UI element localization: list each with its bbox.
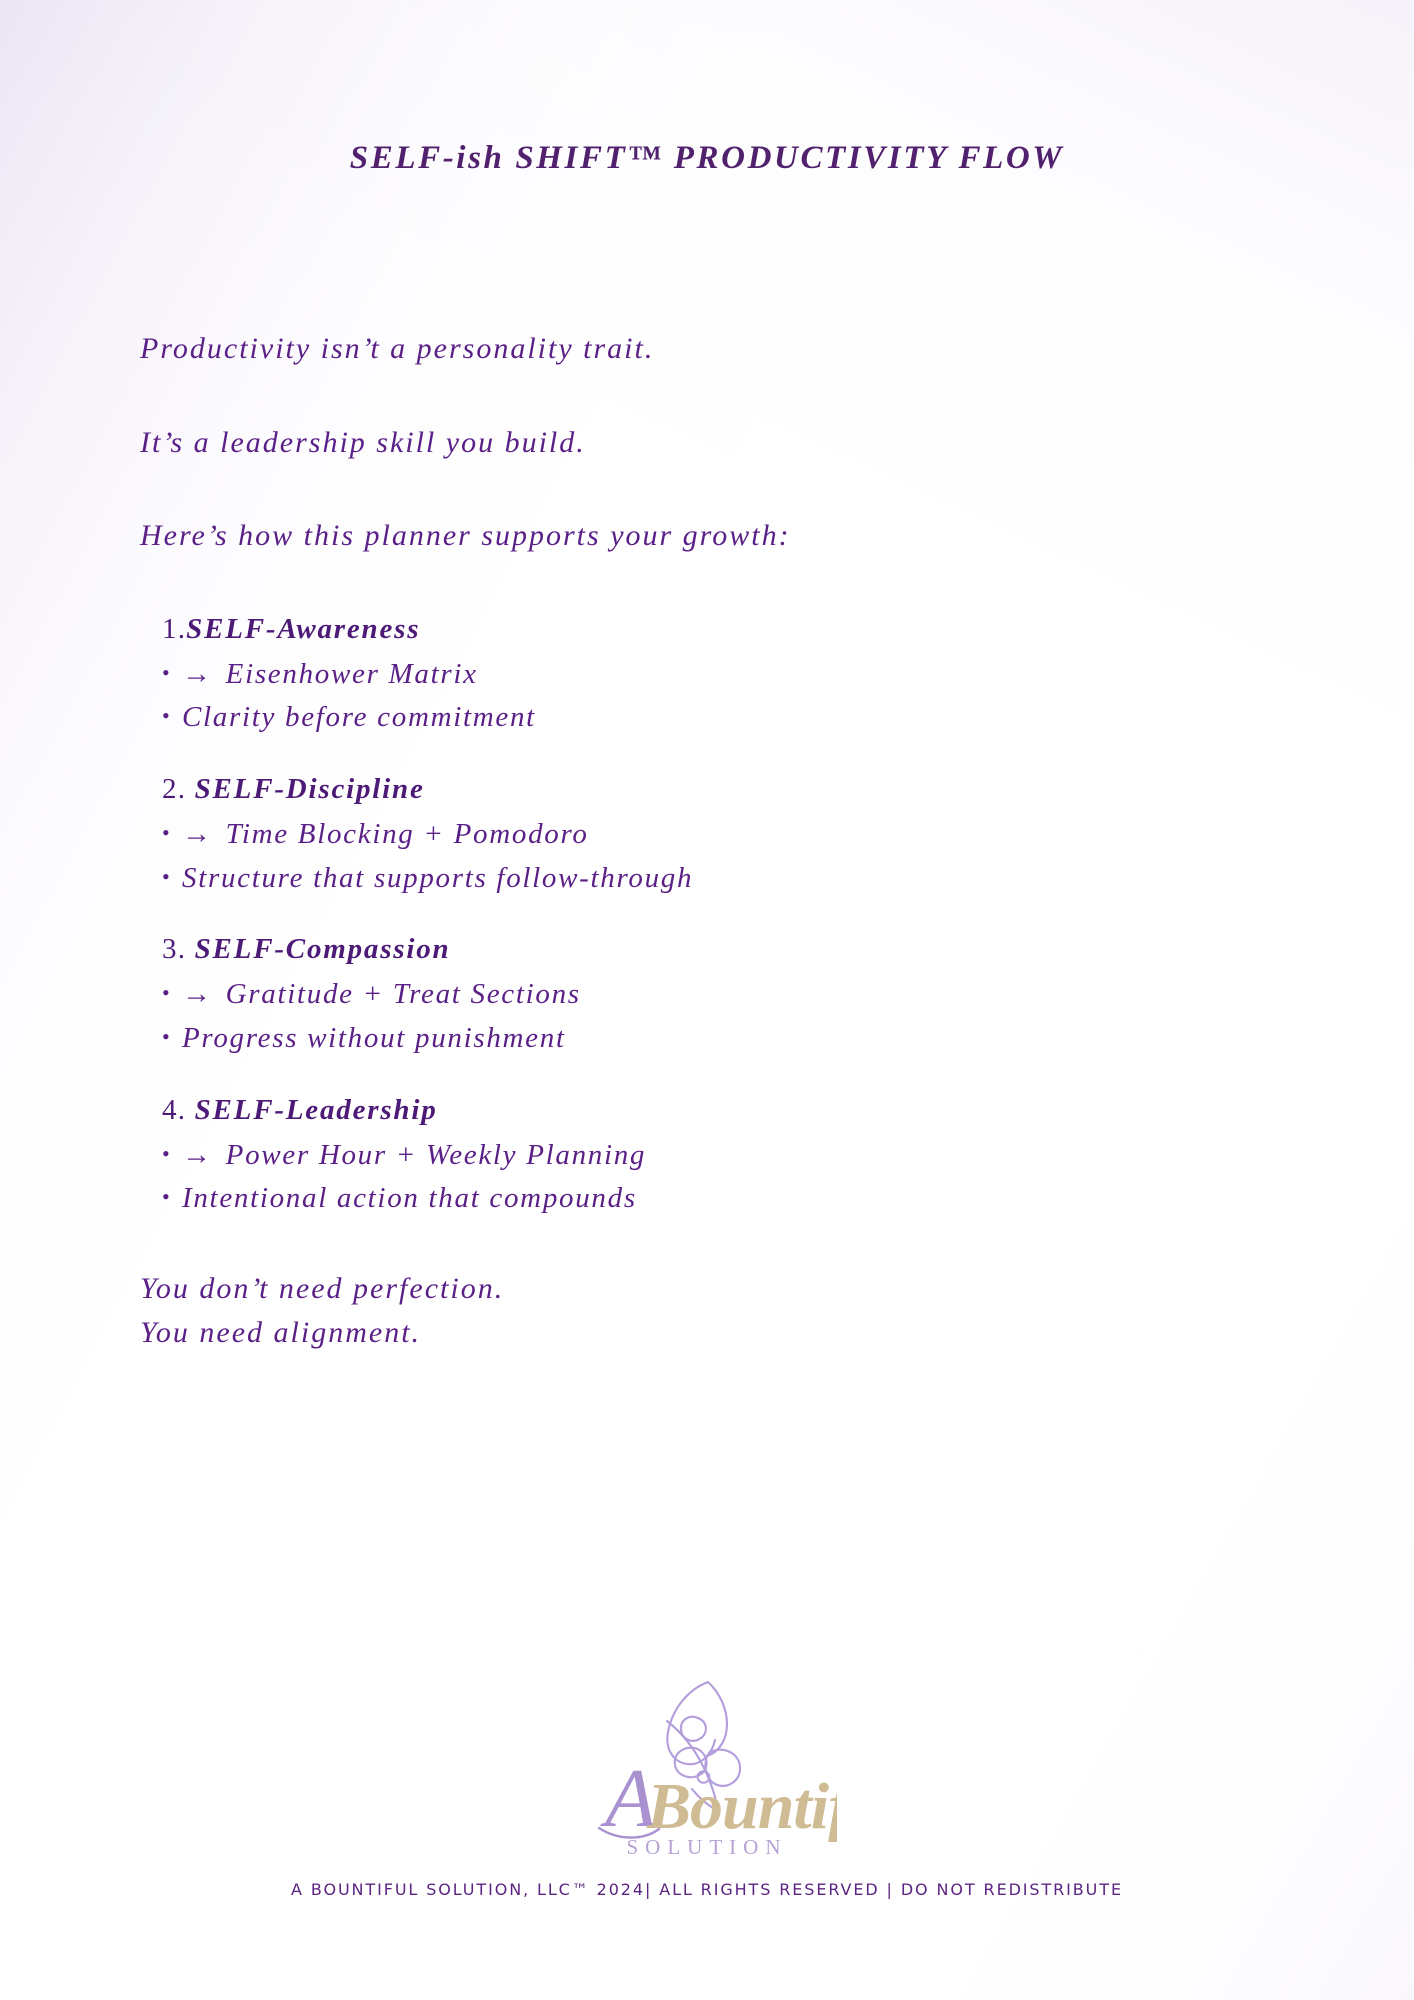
section-heading: 1.SELF-Awareness — [162, 613, 1260, 646]
logo-artwork: A Bountiful SOLUTION — [577, 1648, 837, 1863]
footer-copyright: A BOUNTIFUL SOLUTION, LLC™ 2024| ALL RIG… — [0, 1880, 1414, 1899]
bullet-icon: • — [162, 816, 171, 850]
list-item: •Structure that supports follow-through — [140, 860, 1260, 898]
bullet-icon: • — [162, 1180, 171, 1214]
list-item-text: Progress without punishment — [182, 1022, 566, 1054]
section-heading: 3. SELF-Compassion — [162, 933, 1260, 966]
section-title: SELF-Awareness — [186, 613, 420, 645]
page-title: SELF-ish SHIFT™ PRODUCTIVITY FLOW — [0, 140, 1414, 177]
list-item: •Progress without punishment — [140, 1020, 1260, 1058]
list-item-text: Time Blocking + Pomodoro — [217, 818, 589, 850]
section-title: SELF-Discipline — [195, 773, 425, 805]
list-item-text: Intentional action that compounds — [182, 1182, 637, 1214]
bullet-icon: • — [162, 976, 171, 1010]
section-number: 4. — [162, 1094, 195, 1126]
arrow-icon: → — [182, 978, 217, 1010]
section-bullets: •→ Gratitude + Treat Sections •Progress … — [140, 976, 1260, 1057]
list-item: •→ Eisenhower Matrix — [140, 656, 1260, 694]
section-self-awareness: 1.SELF-Awareness •→ Eisenhower Matrix •C… — [140, 613, 1260, 737]
arrow-icon: → — [182, 818, 217, 850]
bullet-icon: • — [162, 1137, 171, 1171]
intro-line-3: Here’s how this planner supports your gr… — [140, 517, 1260, 555]
section-number: 2. — [162, 773, 195, 805]
section-self-compassion: 3. SELF-Compassion •→ Gratitude + Treat … — [140, 933, 1260, 1057]
section-title: SELF-Compassion — [195, 933, 451, 965]
section-title: SELF-Leadership — [195, 1094, 438, 1126]
list-item-text: Structure that supports follow-through — [182, 862, 693, 894]
body-content: Productivity isn’t a personality trait. … — [140, 330, 1260, 1357]
section-self-leadership: 4. SELF-Leadership •→ Power Hour + Weekl… — [140, 1094, 1260, 1218]
intro-line-1: Productivity isn’t a personality trait. — [140, 330, 1260, 368]
list-item-text: Gratitude + Treat Sections — [217, 978, 581, 1010]
list-item: •→ Power Hour + Weekly Planning — [140, 1137, 1260, 1175]
section-bullets: •→ Eisenhower Matrix •Clarity before com… — [140, 656, 1260, 737]
list-item: •→ Time Blocking + Pomodoro — [140, 816, 1260, 854]
bullet-icon: • — [162, 1020, 171, 1054]
closing-line-2: You need alignment. — [140, 1314, 1260, 1352]
bullet-icon: • — [162, 699, 171, 733]
list-item: •Clarity before commitment — [140, 699, 1260, 737]
section-bullets: •→ Power Hour + Weekly Planning •Intenti… — [140, 1137, 1260, 1218]
arrow-icon: → — [182, 658, 217, 690]
list-item-text: Power Hour + Weekly Planning — [217, 1139, 646, 1171]
logo-script-word: Bountiful — [646, 1770, 837, 1843]
brand-logo: A Bountiful SOLUTION — [577, 1648, 837, 1863]
list-item-text: Clarity before commitment — [182, 701, 536, 733]
closing-line-1: You don’t need perfection. — [140, 1270, 1260, 1308]
intro-line-2: It’s a leadership skill you build. — [140, 424, 1260, 462]
section-heading: 2. SELF-Discipline — [162, 773, 1260, 806]
closing-block: You don’t need perfection. You need alig… — [140, 1270, 1260, 1351]
list-item: •→ Gratitude + Treat Sections — [140, 976, 1260, 1014]
bullet-icon: • — [162, 860, 171, 894]
list-item-text: Eisenhower Matrix — [217, 658, 478, 690]
svg-text:Bountiful: Bountiful — [646, 1770, 837, 1843]
page-canvas: SELF-ish SHIFT™ PRODUCTIVITY FLOW Produc… — [0, 0, 1414, 2000]
logo-caps-word: SOLUTION — [627, 1835, 788, 1859]
sections-list: 1.SELF-Awareness •→ Eisenhower Matrix •C… — [140, 613, 1260, 1219]
section-heading: 4. SELF-Leadership — [162, 1094, 1260, 1127]
arrow-icon: → — [182, 1139, 217, 1171]
section-number: 1. — [162, 613, 186, 645]
section-number: 3. — [162, 933, 195, 965]
bullet-icon: • — [162, 656, 171, 690]
list-item: •Intentional action that compounds — [140, 1180, 1260, 1218]
section-bullets: •→ Time Blocking + Pomodoro •Structure t… — [140, 816, 1260, 897]
section-self-discipline: 2. SELF-Discipline •→ Time Blocking + Po… — [140, 773, 1260, 897]
